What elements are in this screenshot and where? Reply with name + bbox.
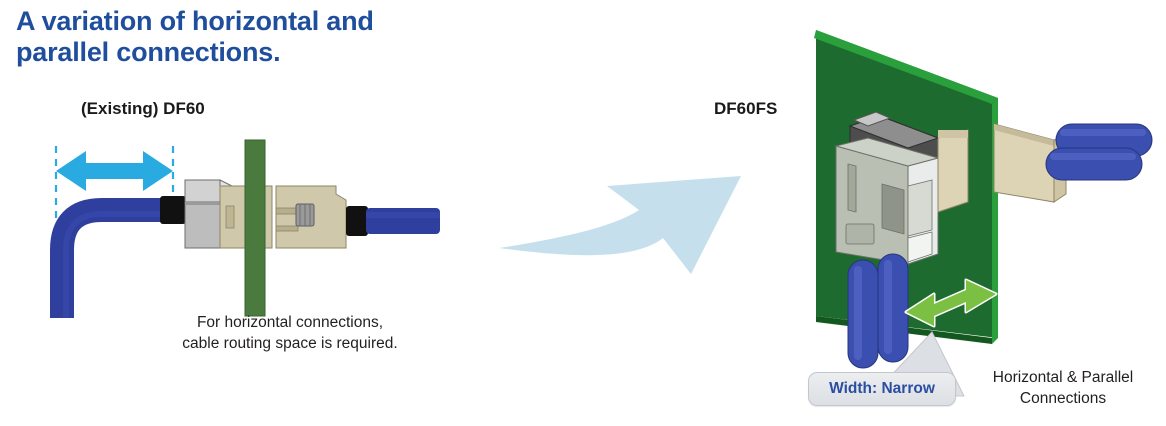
left-cable-boot (160, 196, 186, 224)
rear-horizontal-cables (1046, 124, 1152, 180)
page-title-line-1: A variation of horizontal and (16, 6, 576, 37)
page-title: A variation of horizontal and parallel c… (16, 6, 576, 68)
df60fs-connector-illustration (808, 16, 1166, 376)
left-connector-body-rear (276, 186, 346, 248)
diagram-canvas: A variation of horizontal and parallel c… (0, 0, 1166, 426)
right-cable (366, 208, 440, 234)
left-product-label: (Existing) DF60 (81, 99, 205, 119)
right-cable-boot (346, 206, 368, 236)
page-title-line-2: parallel connections. (16, 37, 576, 68)
width-narrow-badge: Width: Narrow (808, 372, 956, 406)
right-product-label: DF60FS (714, 99, 777, 119)
right-caption: Horizontal & Parallel Connections (960, 368, 1166, 410)
left-cable-bent (62, 210, 168, 318)
right-cable-highlight (366, 212, 440, 218)
right-caption-line-1: Horizontal & Parallel (960, 368, 1166, 389)
left-cable-highlight (66, 214, 168, 318)
left-caption-line-1: For horizontal connections, (135, 313, 445, 334)
left-caption: For horizontal connections, cable routin… (135, 313, 445, 355)
routing-space-arrow-icon (56, 151, 173, 191)
df60-connector-illustration (40, 138, 440, 318)
right-caption-line-2: Connections (960, 389, 1166, 410)
left-mounting-panel (245, 140, 265, 316)
transition-swoosh-arrow-icon (495, 168, 755, 278)
width-narrow-badge-label: Width: Narrow (829, 380, 935, 398)
left-caption-line-2: cable routing space is required. (135, 334, 445, 355)
